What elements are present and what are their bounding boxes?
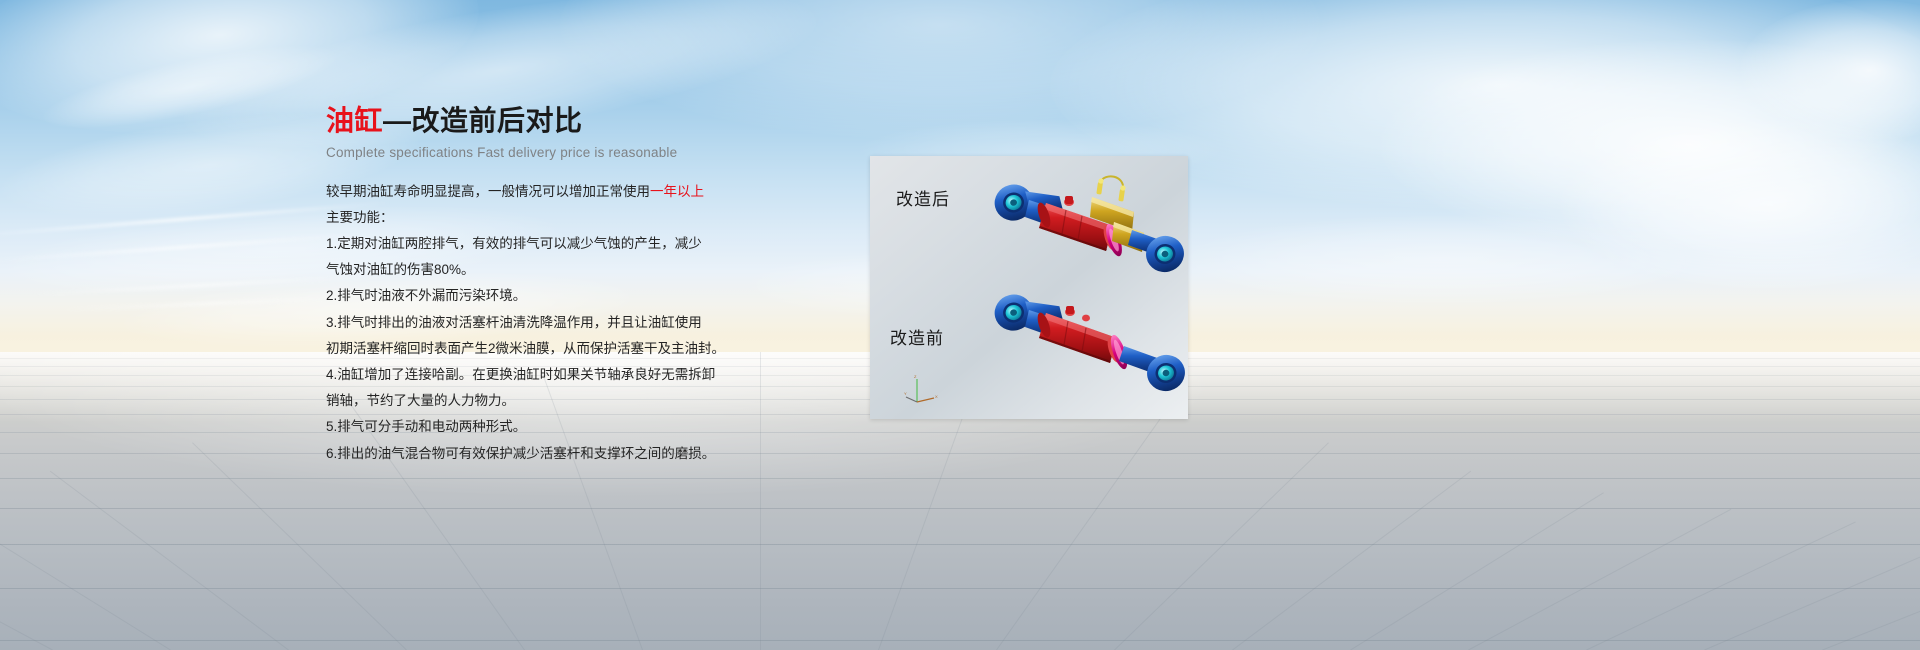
tile-grid-line-vertical bbox=[1350, 492, 1604, 650]
feature-description-list: 较早期油缸寿命明显提高，一般情况可以增加正常使用一年以上主要功能：1.定期对油缸… bbox=[326, 179, 746, 467]
tile-grid-line-horizontal bbox=[0, 588, 1920, 589]
cloud-shape bbox=[1380, 40, 1920, 250]
comparison-image-panel: 改造后 改造前 Z X Y bbox=[870, 156, 1188, 419]
label-after-modification: 改造后 bbox=[896, 185, 950, 210]
cloud-shape bbox=[38, 29, 343, 144]
feature-line: 3.排气时排出的油液对活塞杆油清洗降温作用，并且让油缸使用 bbox=[326, 310, 746, 336]
cloud-streak bbox=[30, 275, 370, 296]
feature-line-text: 1.定期对油缸两腔排气，有效的排气可以减少气蚀的产生，减少 bbox=[326, 236, 702, 251]
cylinder-assembly-after bbox=[974, 170, 1188, 290]
tile-grid-line-vertical bbox=[50, 471, 289, 650]
svg-text:X: X bbox=[935, 394, 938, 399]
tile-grid-line-vertical bbox=[1468, 509, 1731, 650]
feature-line-text: 销轴，节约了大量的人力物力。 bbox=[326, 393, 515, 408]
feature-line-text: 3.排气时排出的油液对活塞杆油清洗降温作用，并且让油缸使用 bbox=[326, 315, 702, 330]
svg-text:Y: Y bbox=[904, 391, 907, 396]
svg-text:Z: Z bbox=[914, 374, 917, 379]
feature-line-accent: 一年以上 bbox=[650, 184, 704, 199]
feature-line-text: 2.排气时油液不外漏而污染环境。 bbox=[326, 288, 526, 303]
tile-grid-line-vertical bbox=[1586, 521, 1856, 650]
feature-line-text: 主要功能： bbox=[326, 210, 394, 225]
tile-grid-line-vertical bbox=[1822, 540, 1920, 650]
tile-grid-line-horizontal bbox=[0, 432, 1920, 433]
feature-line: 主要功能： bbox=[326, 205, 746, 231]
feature-line-text: 气蚀对油缸的伤害80%。 bbox=[326, 262, 475, 277]
tile-grid-line-horizontal bbox=[0, 508, 1920, 509]
tile-grid-line-vertical bbox=[0, 509, 53, 650]
feature-line: 5.排气可分手动和电动两种形式。 bbox=[326, 414, 746, 440]
feature-line: 较早期油缸寿命明显提高，一般情况可以增加正常使用一年以上 bbox=[326, 179, 746, 205]
tile-grid-line-horizontal bbox=[0, 640, 1920, 641]
feature-line: 4.油缸增加了连接哈副。在更换油缸时如果关节轴承良好无需拆卸 bbox=[326, 362, 746, 388]
feature-line-text: 较早期油缸寿命明显提高，一般情况可以增加正常使用 bbox=[326, 184, 650, 199]
hero-text-block: 油缸—改造前后对比 Complete specifications Fast d… bbox=[326, 104, 746, 467]
tile-grid-line-horizontal bbox=[0, 478, 1920, 479]
page-title: 油缸—改造前后对比 bbox=[326, 104, 746, 138]
cad-axis-triad-icon: Z X Y bbox=[904, 374, 938, 404]
tile-grid-line-horizontal bbox=[0, 453, 1920, 454]
tile-grid-line-horizontal bbox=[0, 544, 1920, 545]
cloud-streak bbox=[0, 233, 370, 263]
label-before-modification: 改造前 bbox=[890, 324, 944, 349]
hero-banner: 油缸—改造前后对比 Complete specifications Fast d… bbox=[0, 0, 1920, 650]
cylinder-assembly-before bbox=[974, 284, 1188, 406]
tile-grid-line-vertical bbox=[0, 492, 171, 650]
page-subtitle: Complete specifications Fast delivery pr… bbox=[326, 145, 746, 160]
feature-line: 1.定期对油缸两腔排气，有效的排气可以减少气蚀的产生，减少 bbox=[326, 231, 746, 257]
feature-line: 2.排气时油液不外漏而污染环境。 bbox=[326, 283, 746, 309]
feature-line: 销轴，节约了大量的人力物力。 bbox=[326, 388, 746, 414]
feature-line-text: 初期活塞杆缩回时表面产生2微米油膜，从而保护活塞干及主油封。 bbox=[326, 341, 725, 356]
feature-line: 气蚀对油缸的伤害80%。 bbox=[326, 257, 746, 283]
feature-line-text: 4.油缸增加了连接哈副。在更换油缸时如果关节轴承良好无需拆卸 bbox=[326, 367, 715, 382]
tile-grid-line-vertical bbox=[1704, 532, 1920, 650]
feature-line-text: 5.排气可分手动和电动两种形式。 bbox=[326, 419, 526, 434]
cloud-shape bbox=[1180, 215, 1700, 305]
tile-grid-line-vertical bbox=[1232, 471, 1471, 650]
tile-grid-line-vertical bbox=[760, 352, 761, 650]
cloud-shape bbox=[1560, 120, 1920, 290]
page-title-rest: —改造前后对比 bbox=[383, 105, 583, 136]
feature-line: 6.排出的油气混合物可有效保护减少活塞杆和支撑环之间的磨损。 bbox=[326, 441, 746, 467]
tile-grid-line-vertical bbox=[192, 442, 407, 650]
feature-line-text: 6.排出的油气混合物可有效保护减少活塞杆和支撑环之间的磨损。 bbox=[326, 446, 715, 461]
page-title-highlight: 油缸 bbox=[326, 105, 383, 136]
feature-line: 初期活塞杆缩回时表面产生2微米油膜，从而保护活塞干及主油封。 bbox=[326, 336, 746, 362]
tile-grid-line-vertical bbox=[1114, 442, 1329, 650]
cloud-shape bbox=[1740, 0, 1920, 140]
tile-grid-line-vertical bbox=[996, 407, 1169, 650]
cloud-streak bbox=[60, 295, 360, 311]
